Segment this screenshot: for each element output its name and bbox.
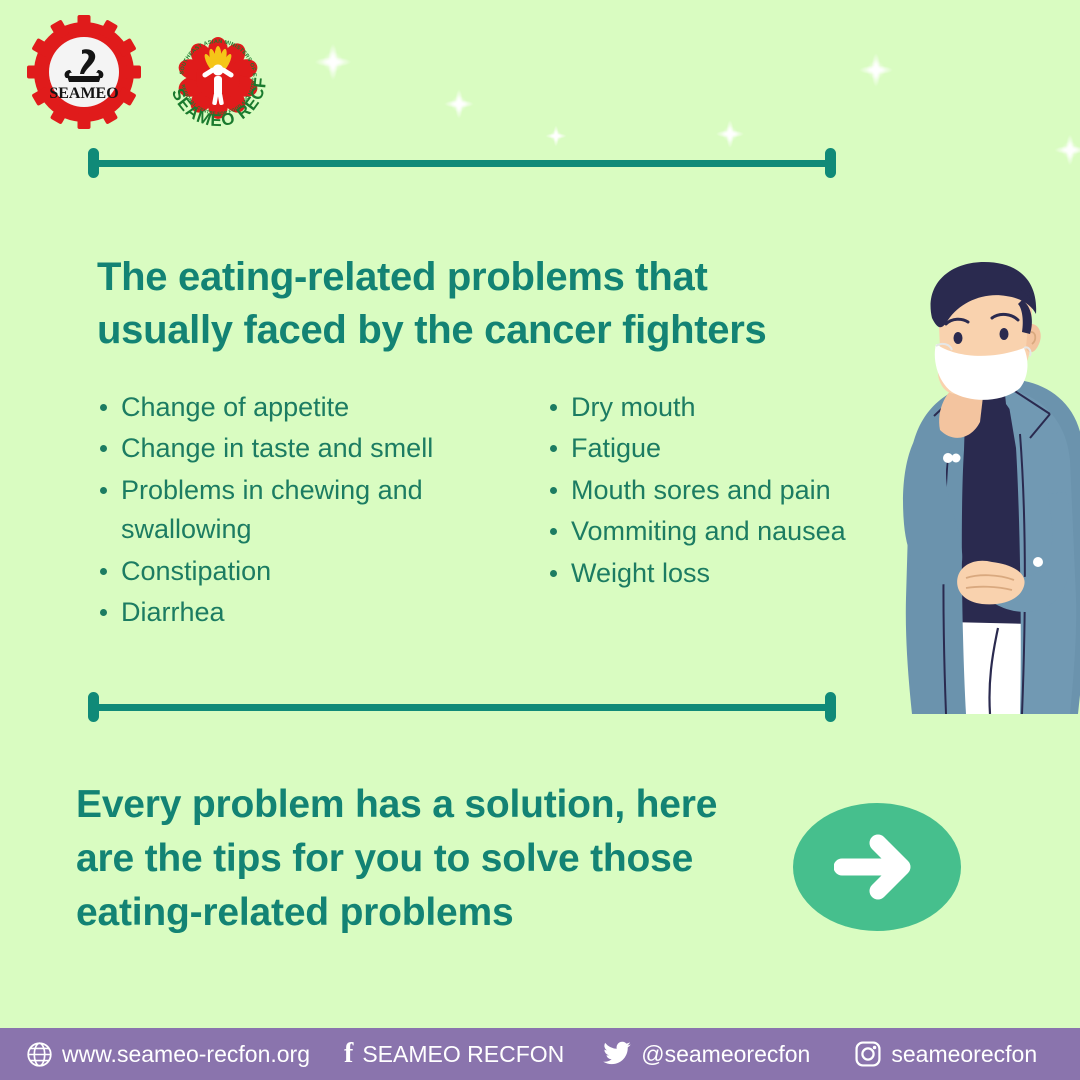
bullet-dot-icon — [550, 445, 557, 452]
sparkle-icon — [438, 83, 480, 125]
bullet-dot-icon — [550, 487, 557, 494]
list-item: Vommiting and nausea — [550, 512, 900, 551]
bullet-dot-icon — [100, 609, 107, 616]
cta-text: Every problem has a solution, here are t… — [76, 778, 792, 939]
person-illustration — [880, 262, 1080, 714]
list-item-label: Change of appetite — [121, 388, 550, 427]
list-item-label: Change in taste and smell — [121, 429, 550, 468]
list-item-label: Vommiting and nausea — [571, 512, 900, 551]
list-item-label: Weight loss — [571, 554, 900, 593]
list-item: Mouth sores and pain — [550, 471, 900, 510]
divider-top — [88, 148, 836, 178]
cta-line-3: eating-related problems — [76, 886, 792, 940]
instagram-icon — [854, 1040, 882, 1068]
divider-cap-right — [825, 148, 836, 178]
sparkle-icon — [852, 46, 900, 94]
bullet-dot-icon — [100, 568, 107, 575]
logo-row: SEAMEO — [26, 14, 282, 142]
divider-bar — [94, 704, 830, 711]
page-title: The eating-related problems that usually… — [97, 251, 837, 357]
footer-website[interactable]: www.seameo-recfon.org — [26, 1041, 310, 1068]
list-item: Fatigue — [550, 429, 900, 468]
list-item-label: Diarrhea — [121, 593, 550, 632]
bullet-dot-icon — [550, 570, 557, 577]
sparkle-icon — [307, 36, 359, 88]
poster-canvas: SEAMEO — [0, 0, 1080, 1080]
page-title-line-2: usually faced by the cancer fighters — [97, 304, 837, 357]
svg-text:SEAMEO: SEAMEO — [49, 85, 118, 102]
footer-instagram-label: seameorecfon — [891, 1041, 1037, 1068]
cta-line-2: are the tips for you to solve those — [76, 832, 792, 886]
footer-facebook-label: SEAMEO RECFON — [362, 1041, 564, 1068]
list-item: Weight loss — [550, 554, 900, 593]
next-arrow-button[interactable] — [793, 803, 961, 931]
list-item: Problems in chewing and swallowing — [100, 471, 550, 550]
list-item-label: Fatigue — [571, 429, 900, 468]
page-title-line-1: The eating-related problems that — [97, 251, 837, 304]
list-item: Diarrhea — [100, 593, 550, 632]
problems-right-column: Dry mouth Fatigue Mouth sores and pain V… — [550, 388, 900, 634]
list-item-label: Problems in chewing and swallowing — [121, 471, 550, 550]
globe-icon — [26, 1041, 53, 1068]
cta-line-1: Every problem has a solution, here — [76, 778, 792, 832]
seameo-logo: SEAMEO — [26, 14, 142, 130]
seameo-recfon-logo: SEAMEO RECFON SOUTHEAST ASIAN MINISTERS … — [154, 14, 282, 142]
problems-columns: Change of appetite Change in taste and s… — [100, 388, 900, 634]
footer-twitter-label: @seameorecfon — [641, 1041, 810, 1068]
list-item-label: Dry mouth — [571, 388, 900, 427]
bullet-dot-icon — [100, 487, 107, 494]
bullet-dot-icon — [100, 445, 107, 452]
list-item: Change in taste and smell — [100, 429, 550, 468]
arrow-right-icon — [834, 830, 920, 904]
list-item-label: Constipation — [121, 552, 550, 591]
list-item: Change of appetite — [100, 388, 550, 427]
list-item: Dry mouth — [550, 388, 900, 427]
bullet-dot-icon — [100, 404, 107, 411]
problems-left-column: Change of appetite Change in taste and s… — [100, 388, 550, 634]
bullet-dot-icon — [550, 528, 557, 535]
bullet-dot-icon — [550, 404, 557, 411]
twitter-icon — [602, 1041, 632, 1067]
list-item: Constipation — [100, 552, 550, 591]
footer-bar: www.seameo-recfon.org f SEAMEO RECFON @s… — [0, 1028, 1080, 1080]
sparkle-icon — [1048, 128, 1080, 172]
divider-cap-right — [825, 692, 836, 722]
divider-bar — [94, 160, 830, 167]
divider-bottom — [88, 692, 836, 722]
list-item-label: Mouth sores and pain — [571, 471, 900, 510]
footer-website-label: www.seameo-recfon.org — [62, 1041, 310, 1068]
footer-instagram[interactable]: seameorecfon — [854, 1040, 1037, 1068]
footer-facebook[interactable]: f SEAMEO RECFON — [344, 1040, 564, 1068]
footer-twitter[interactable]: @seameorecfon — [602, 1041, 810, 1068]
sparkle-icon — [541, 121, 571, 151]
facebook-icon: f — [344, 1040, 353, 1068]
